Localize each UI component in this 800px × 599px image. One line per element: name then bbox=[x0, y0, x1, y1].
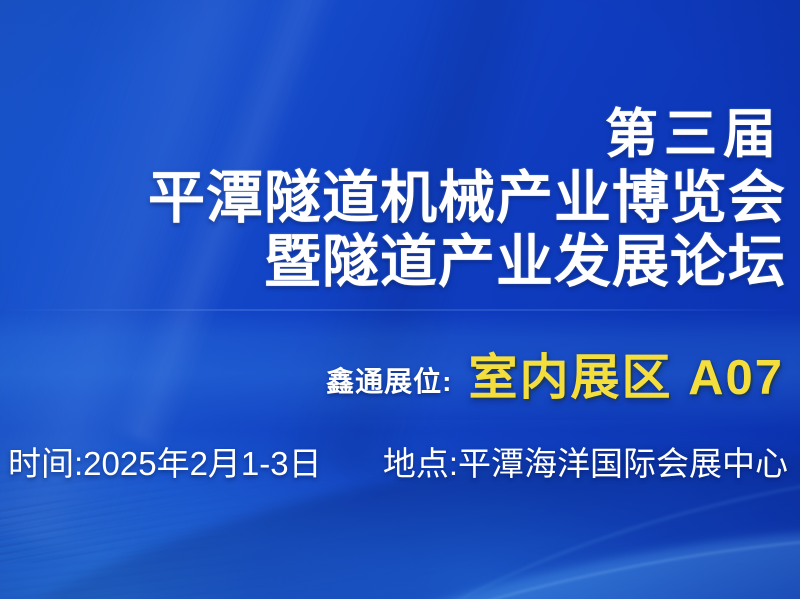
event-details-row: 时间:2025年2月1-3日 地点:平潭海洋国际会展中心 bbox=[8, 444, 788, 484]
booth-label: 鑫通展位: bbox=[326, 360, 452, 400]
booth-number: 室内展区 A07 bbox=[468, 338, 784, 409]
exhibition-banner: 第三届 平潭隧道机械产业博览会 暨隧道产业发展论坛 鑫通展位: 室内展区 A07… bbox=[0, 0, 800, 599]
booth-info-row: 鑫通展位: 室内展区 A07 bbox=[326, 338, 784, 409]
event-venue: 地点:平潭海洋国际会展中心 bbox=[383, 444, 788, 484]
banner-content: 第三届 平潭隧道机械产业博览会 暨隧道产业发展论坛 鑫通展位: 室内展区 A07… bbox=[0, 0, 800, 599]
event-title-block: 第三届 平潭隧道机械产业博览会 暨隧道产业发展论坛 bbox=[148, 104, 786, 294]
event-title-line-subtitle: 暨隧道产业发展论坛 bbox=[148, 230, 786, 294]
event-title-line-main: 平潭隧道机械产业博览会 bbox=[148, 166, 786, 230]
event-title-line-edition: 第三届 bbox=[148, 104, 786, 166]
event-date: 时间:2025年2月1-3日 bbox=[8, 444, 322, 484]
